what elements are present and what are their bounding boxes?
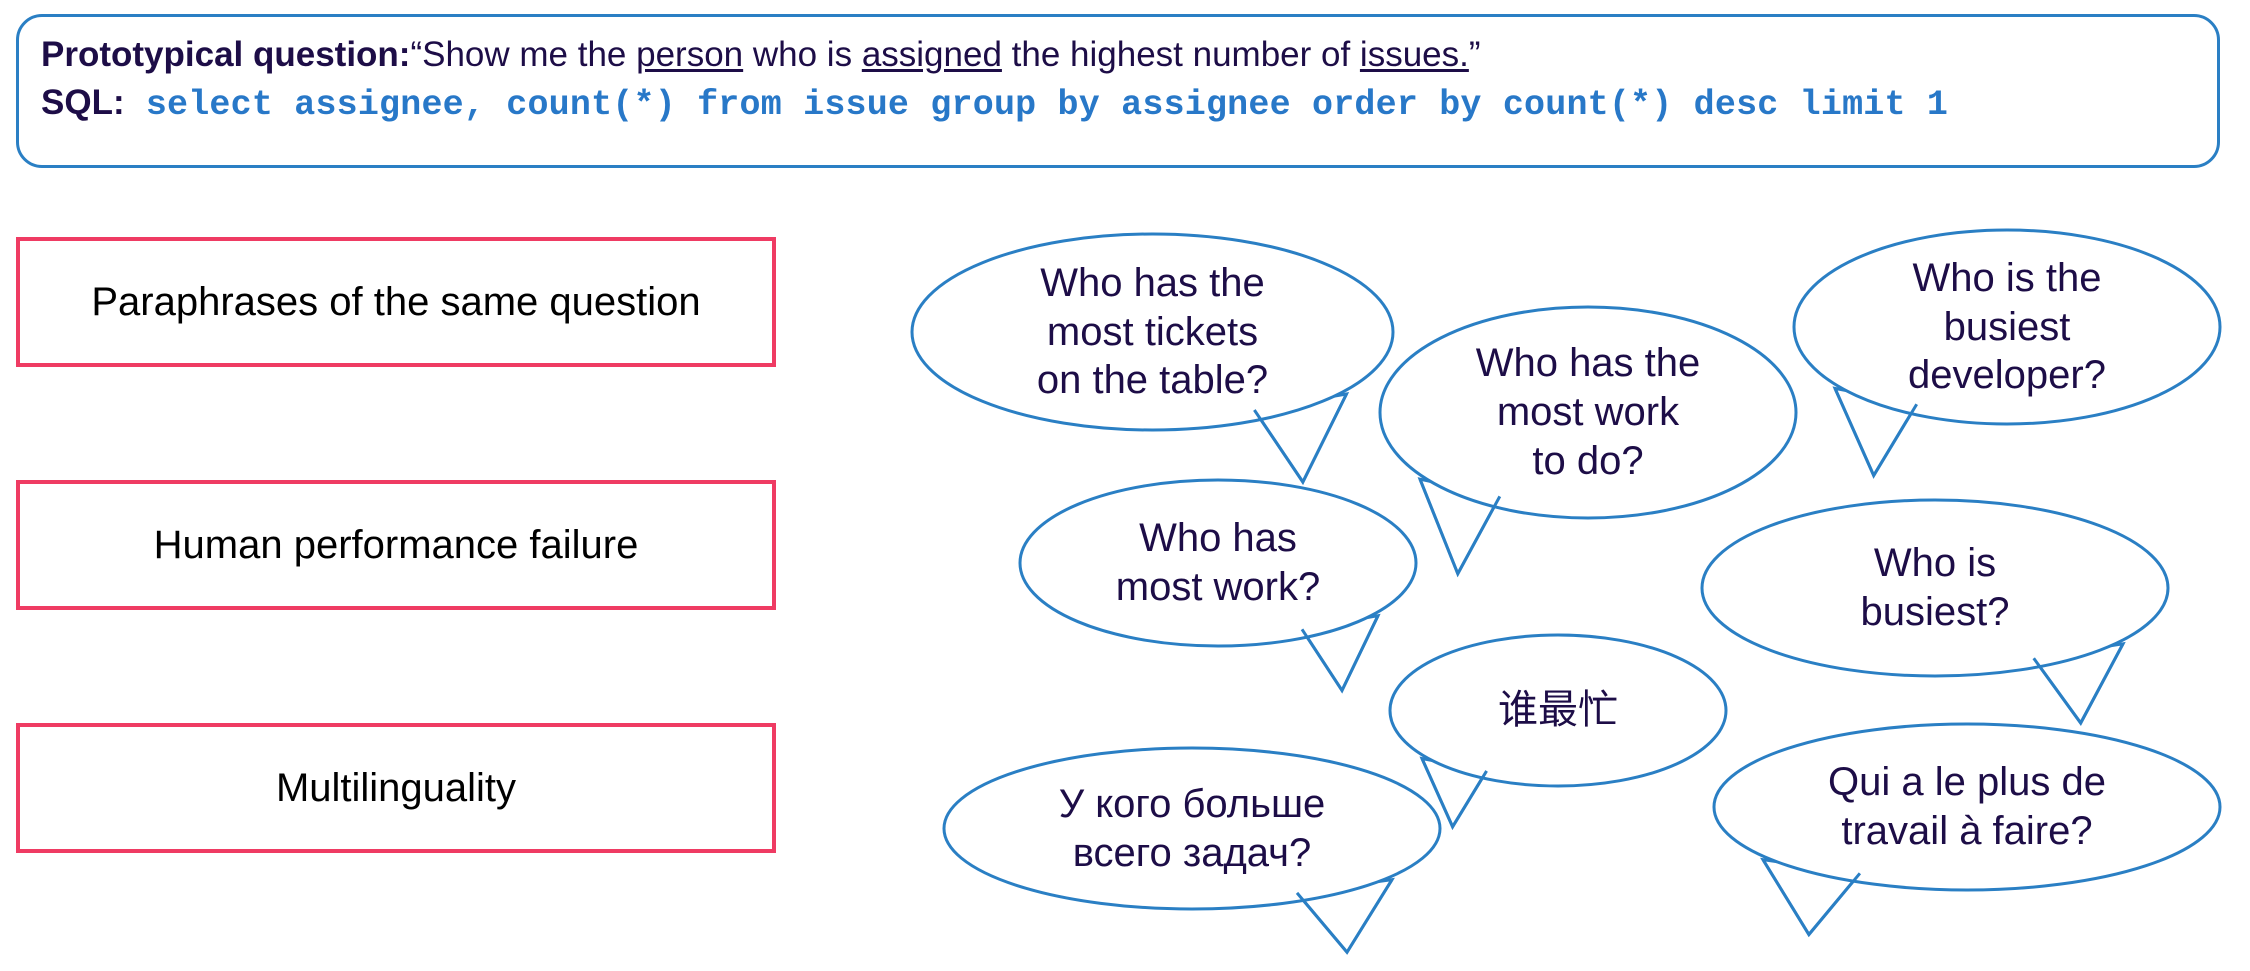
speech-bubble-tail [1297,880,1392,953]
question-open-quote: “Show me the [410,35,636,74]
speech-bubble-qui-a-le-plus-de-travail: Qui a le plus de travail à faire? [1712,722,2222,892]
sql-line: SQL: select assignee, count(*) from issu… [41,79,2207,129]
speech-bubble-text: У кого больше всего задач? [942,746,1442,911]
speech-bubble-who-is-busiest: Who is busiest? [1700,498,2170,678]
question-underlined-person: person [636,35,743,74]
speech-bubble-tail-edge [1302,616,1378,691]
speech-bubble-tail-edge [1763,860,1860,935]
question-mid-2: the highest number of [1002,35,1360,74]
category-box-human-performance-failure: Human performance failure [16,480,776,610]
speech-bubble-text: 谁最忙 [1388,633,1728,788]
category-box-paraphrases: Paraphrases of the same question [16,237,776,367]
prototypical-question-label: Prototypical question: [41,35,410,74]
speech-bubble-u-kogo-bolshe-vsego-zadach: У кого больше всего задач? [942,746,1442,911]
speech-bubble-body [1702,500,2168,676]
speech-bubble-shape [1388,633,1728,848]
speech-bubble-body [912,234,1393,430]
speech-bubble-body [1380,307,1796,518]
speech-bubble-text: Qui a le plus de travail à faire? [1712,722,2222,892]
speech-bubble-who-is-busiest-developer: Who is the busiest developer? [1792,228,2222,426]
speech-bubble-tail-edge [1835,388,1917,475]
speech-bubble-shape [942,746,1442,971]
category-label: Paraphrases of the same question [91,280,700,324]
speech-bubble-who-has-most-tickets-on-table: Who has the most tickets on the table? [910,232,1395,432]
speech-bubble-tail-edge [1420,479,1500,574]
category-label: Multilinguality [276,766,516,810]
speech-bubble-text: Who has most work? [1018,478,1418,648]
speech-bubble-body [1794,230,2220,424]
speech-bubble-shape [1792,228,2222,486]
question-mid-1: who is [743,35,862,74]
speech-bubble-body [1714,724,2220,890]
category-box-multilinguality: Multilinguality [16,723,776,853]
panel-text-block: Prototypical question:“Show me the perso… [41,31,2207,130]
speech-bubble-shape [1712,722,2222,952]
speech-bubble-body [1020,480,1416,646]
speech-bubble-who-has-most-work: Who has most work? [1018,478,1418,648]
speech-bubble-tail [1302,616,1378,691]
question-underlined-issues: issues. [1360,35,1469,74]
speech-bubble-who-has-most-work-to-do: Who has the most work to do? [1378,305,1798,520]
speech-bubble-body [944,748,1440,909]
category-label: Human performance failure [154,523,639,567]
sql-code: select assignee, count(*) from issue gro… [125,85,1949,125]
speech-bubble-tail [1835,388,1917,475]
speech-bubble-tail [1763,860,1860,935]
speech-bubble-tail [1254,394,1346,482]
question-underlined-assigned: assigned [862,35,1002,74]
speech-bubble-text: Who is busiest? [1700,498,2170,678]
speech-bubble-tail [1422,759,1487,827]
speech-bubble-tail [1420,479,1500,574]
speech-bubble-text: Who has the most tickets on the table? [910,232,1395,432]
speech-bubble-shape [910,232,1395,492]
speech-bubble-tail [2034,644,2123,723]
prototypical-question-panel: Prototypical question:“Show me the perso… [16,14,2220,168]
prototypical-question-line: Prototypical question:“Show me the perso… [41,31,2207,79]
speech-bubble-shape [1378,305,1798,580]
speech-bubble-shape [1700,498,2170,738]
speech-bubble-tail-edge [1422,759,1487,827]
question-close-quote: ” [1469,35,1481,74]
speech-bubble-tail-edge [1254,394,1346,482]
speech-bubble-shui-zui-mang: 谁最忙 [1388,633,1728,788]
speech-bubble-tail-edge [2034,644,2123,723]
speech-bubble-tail-edge [1297,880,1392,953]
speech-bubble-text: Who is the busiest developer? [1792,228,2222,426]
sql-label: SQL: [41,83,125,122]
speech-bubble-shape [1018,478,1418,708]
speech-bubble-text: Who has the most work to do? [1378,305,1798,520]
speech-bubble-body [1390,635,1726,786]
